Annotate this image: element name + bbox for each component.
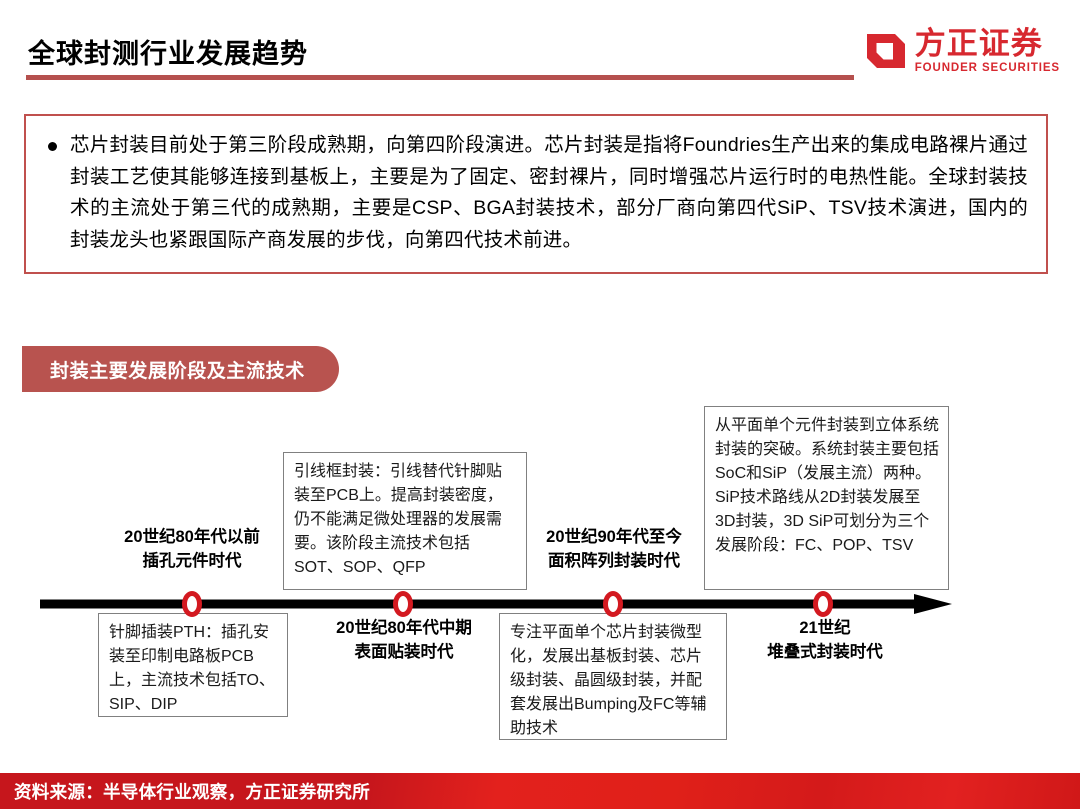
- brand-logo: 方正证券 FOUNDER SECURITIES: [865, 28, 1060, 75]
- brand-name-en: FOUNDER SECURITIES: [915, 63, 1060, 75]
- timeline-node-marker-4[interactable]: [813, 591, 833, 617]
- timeline-detail-box-3: 专注平面单个芯片封装微型化，发展出基板封装、芯片级封装、晶圆级封装，并配套发展出…: [499, 613, 727, 740]
- bullet-icon: [48, 142, 57, 151]
- timeline-era-label-2: 20世纪80年代中期 表面贴装时代: [310, 617, 498, 665]
- page-title: 全球封测行业发展趋势: [28, 32, 308, 71]
- footer-source-text: 资料来源：半导体行业观察，方正证券研究所: [0, 779, 370, 804]
- timeline-era-label-3: 20世纪90年代至今 面积阵列封装时代: [518, 526, 710, 574]
- timeline-detail-box-1: 针脚插装PTH：插孔安装至印制电路板PCB上，主流技术包括TO、SIP、DIP: [98, 613, 288, 717]
- section-banner: 封装主要发展阶段及主流技术: [22, 346, 339, 392]
- timeline-era-label-4: 21世纪 堆叠式封装时代: [730, 617, 920, 665]
- timeline-node-marker-1[interactable]: [182, 591, 202, 617]
- header-divider-rule: [26, 75, 854, 80]
- section-banner-label: 封装主要发展阶段及主流技术: [50, 356, 305, 383]
- callout-box: 芯片封装目前处于第三阶段成熟期，向第四阶段演进。芯片封装是指将Foundries…: [24, 114, 1048, 274]
- timeline-detail-box-2: 引线框封装：引线替代针脚贴装至PCB上。提高封装密度，仍不能满足微处理器的发展需…: [283, 452, 527, 590]
- timeline-era-label-1: 20世纪80年代以前 插孔元件时代: [96, 526, 288, 574]
- slide-canvas: 全球封测行业发展趋势 方正证券 FOUNDER SECURITIES 芯片封装目…: [0, 0, 1080, 809]
- timeline-detail-box-4: 从平面单个元件封装到立体系统封装的突破。系统封装主要包括SoC和SiP（发展主流…: [704, 406, 949, 590]
- brand-name-cn: 方正证券: [915, 28, 1043, 59]
- founder-logo-mark: [865, 30, 907, 72]
- founder-wordmark: 方正证券 FOUNDER SECURITIES: [915, 28, 1060, 75]
- footer-bar: 资料来源：半导体行业观察，方正证券研究所: [0, 773, 1080, 809]
- timeline-node-marker-2[interactable]: [393, 591, 413, 617]
- timeline-node-marker-3[interactable]: [603, 591, 623, 617]
- callout-text: 芯片封装目前处于第三阶段成熟期，向第四阶段演进。芯片封装是指将Foundries…: [70, 130, 1028, 256]
